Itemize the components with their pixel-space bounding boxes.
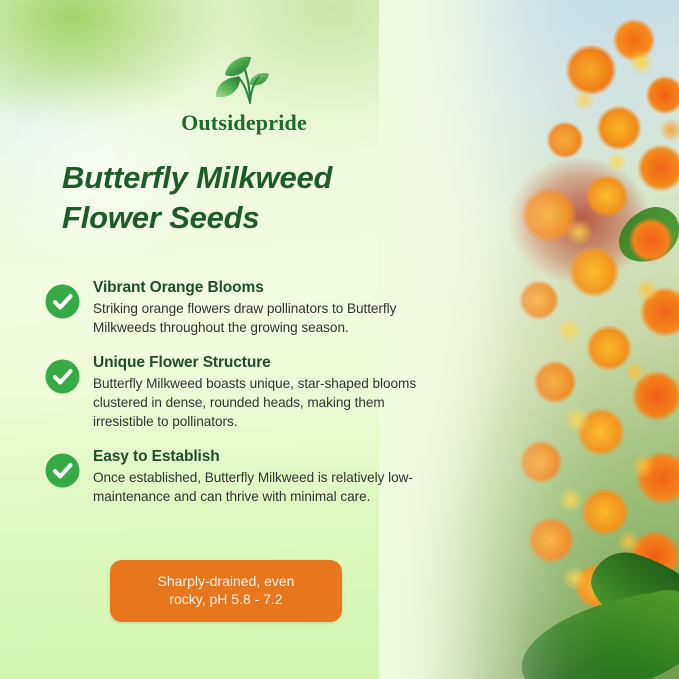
brand-name: Outsidepride <box>176 110 312 136</box>
feature-title: Easy to Establish <box>93 448 440 466</box>
check-circle-icon <box>45 453 80 488</box>
feature-body: Butterfly Milkweed boasts unique, star-s… <box>93 374 440 431</box>
feature-item: Easy to Establish Once established, Butt… <box>45 448 440 506</box>
page-title: Butterfly Milkweed Flower Seeds <box>62 158 442 239</box>
title-line-2: Flower Seeds <box>62 198 442 238</box>
leaf-sprig-icon <box>176 52 312 109</box>
badge-line-2: rocky, pH 5.8 - 7.2 <box>120 590 332 608</box>
check-circle-icon <box>45 359 80 394</box>
feature-text: Unique Flower Structure Butterfly Milkwe… <box>93 354 440 431</box>
feature-title: Unique Flower Structure <box>93 354 440 372</box>
feature-list: Vibrant Orange Blooms Striking orange fl… <box>45 279 440 523</box>
soil-ph-badge: Sharply-drained, even rocky, pH 5.8 - 7.… <box>110 560 342 622</box>
feature-item: Unique Flower Structure Butterfly Milkwe… <box>45 354 440 431</box>
product-infographic: Outsidepride Butterfly Milkweed Flower S… <box>0 0 679 679</box>
feature-text: Easy to Establish Once established, Butt… <box>93 448 440 506</box>
badge-line-1: Sharply-drained, even <box>120 572 332 590</box>
feature-text: Vibrant Orange Blooms Striking orange fl… <box>93 279 440 337</box>
title-line-1: Butterfly Milkweed <box>62 158 442 198</box>
feature-body: Striking orange flowers draw pollinators… <box>93 299 440 337</box>
feature-body: Once established, Butterfly Milkweed is … <box>93 468 440 506</box>
check-circle-icon <box>45 284 80 319</box>
feature-title: Vibrant Orange Blooms <box>93 279 440 297</box>
content-layer: Outsidepride Butterfly Milkweed Flower S… <box>0 0 679 679</box>
feature-item: Vibrant Orange Blooms Striking orange fl… <box>45 279 440 337</box>
brand-logo: Outsidepride <box>176 52 312 136</box>
